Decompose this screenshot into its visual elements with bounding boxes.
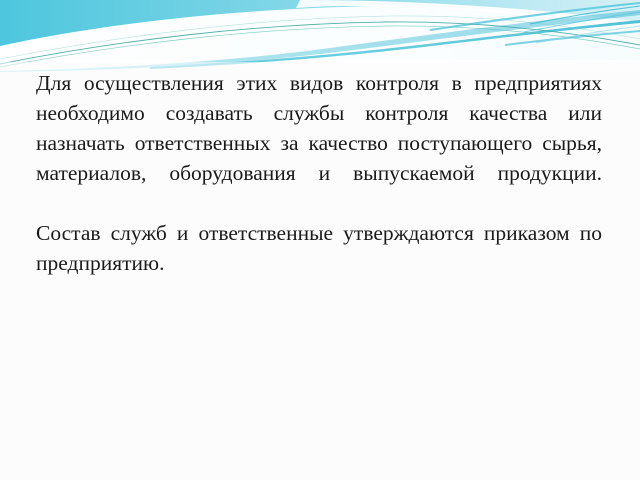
- body-paragraph-1: Для осуществления этих видов контроля в …: [36, 68, 602, 218]
- wave-banner-decoration: [0, 0, 640, 72]
- body-paragraph-2: Состав служб и ответственные утверждаютс…: [36, 218, 602, 308]
- slide-canvas: Для осуществления этих видов контроля в …: [0, 0, 640, 480]
- wave-banner-graphic: [0, 0, 640, 72]
- slide-text-body: Для осуществления этих видов контроля в …: [36, 68, 602, 308]
